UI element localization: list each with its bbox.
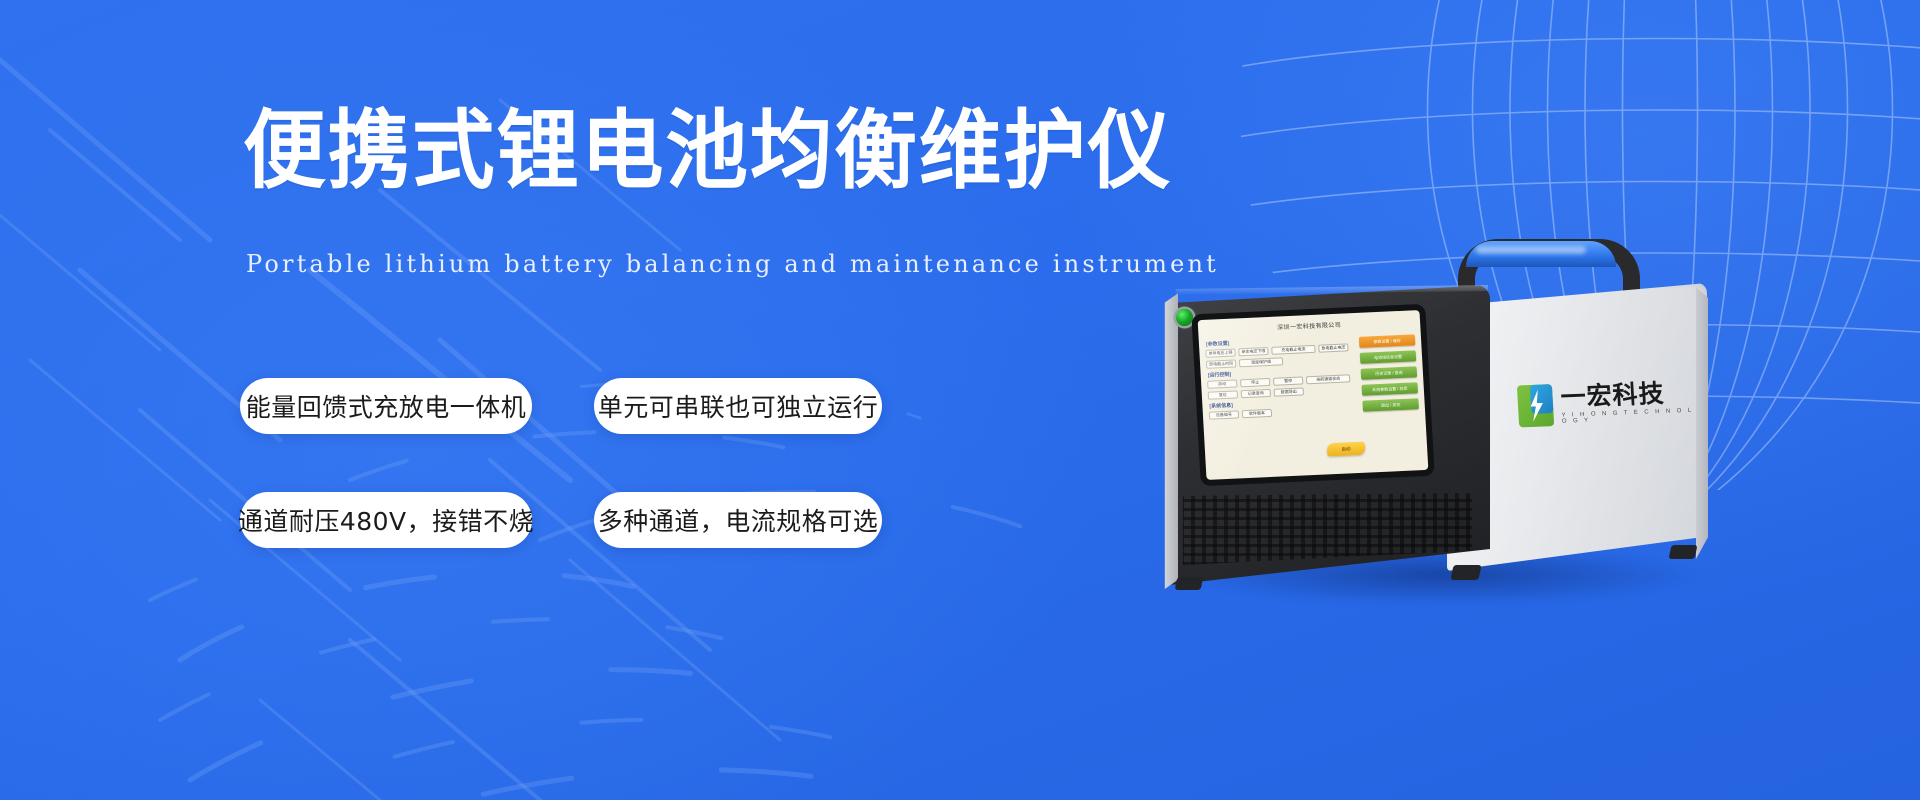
brand-logo: 一宏科技 Y I H O N G T E C H N O L O G Y: [1517, 374, 1700, 433]
screen-field[interactable]: 记录查询: [1241, 389, 1271, 398]
screen-field[interactable]: 数据导出: [1274, 387, 1304, 396]
logo-brand-cn: 一宏科技: [1560, 380, 1698, 410]
feature-pill-grid: 能量回馈式充放电一体机 单元可串联也可独立运行 通道耐压480V，接错不烧 多种…: [240, 378, 882, 548]
screen-action-button[interactable]: 历史记录 / 查询: [1361, 366, 1418, 380]
device-handle-cap: [1466, 241, 1616, 267]
device-foot: [1175, 577, 1204, 590]
screen-field[interactable]: 软件版本: [1242, 409, 1272, 418]
screen-field[interactable]: 单体电压下限: [1238, 347, 1268, 356]
screen-action-button[interactable]: 退出 / 关机: [1362, 398, 1419, 412]
device-foot: [1450, 565, 1481, 580]
screen-start-button[interactable]: 启动: [1327, 442, 1366, 457]
product-device-image: 一宏科技 Y I H O N G T E C H N O L O G Y 深圳一…: [1140, 225, 1760, 645]
screen-field[interactable]: 放电截止电压: [1318, 343, 1348, 352]
page-title: 便携式锂电池均衡维护仪: [243, 108, 1172, 194]
screen-field[interactable]: 放电截止时间: [1206, 359, 1236, 368]
product-banner: 便携式锂电池均衡维护仪 Portable lithium battery bal…: [0, 0, 1920, 800]
device-touchscreen[interactable]: 深圳一宏科技有限公司 [参数设置] 单体电压上限 单体电压下限 充电截止电流 放…: [1198, 310, 1429, 480]
screen-field[interactable]: 温度保护值: [1239, 357, 1283, 367]
screen-field[interactable]: 充电截止电流: [1271, 345, 1315, 355]
device-foot: [1669, 545, 1698, 559]
screen-field[interactable]: 停止: [1240, 378, 1270, 387]
logo-lightning-icon: [1517, 384, 1554, 427]
screen-field[interactable]: 复位: [1208, 390, 1238, 399]
feature-pill-2[interactable]: 单元可串联也可独立运行: [594, 378, 882, 434]
feature-pill-row-2: 通道耐压480V，接错不烧 多种通道，电流规格可选: [240, 492, 882, 548]
screen-field[interactable]: 启动: [1207, 379, 1237, 388]
feature-pill-1[interactable]: 能量回馈式充放电一体机: [240, 378, 532, 434]
screen-action-button[interactable]: 参数设置 / 保存: [1359, 334, 1416, 348]
feature-pill-row-1: 能量回馈式充放电一体机 单元可串联也可独立运行: [240, 378, 882, 434]
banner-content: 便携式锂电池均衡维护仪 Portable lithium battery bal…: [0, 0, 1150, 800]
screen-field[interactable]: 设备编号: [1209, 410, 1239, 419]
screen-action-button[interactable]: 系统参数设置 / 标定: [1362, 382, 1419, 396]
feature-pill-3[interactable]: 通道耐压480V，接错不烧: [240, 492, 532, 548]
device-left-rim: [1156, 281, 1178, 589]
page-subtitle: Portable lithium battery balancing and m…: [246, 250, 1219, 278]
screen-field[interactable]: 暂停: [1273, 376, 1303, 385]
power-button-indicator[interactable]: [1176, 309, 1193, 326]
screen-action-button[interactable]: 电池组信息设置: [1360, 350, 1417, 364]
screen-field[interactable]: 单体电压上限: [1205, 348, 1235, 357]
screen-field[interactable]: 当前通道状态: [1306, 374, 1350, 384]
feature-pill-4[interactable]: 多种通道，电流规格可选: [594, 492, 882, 548]
